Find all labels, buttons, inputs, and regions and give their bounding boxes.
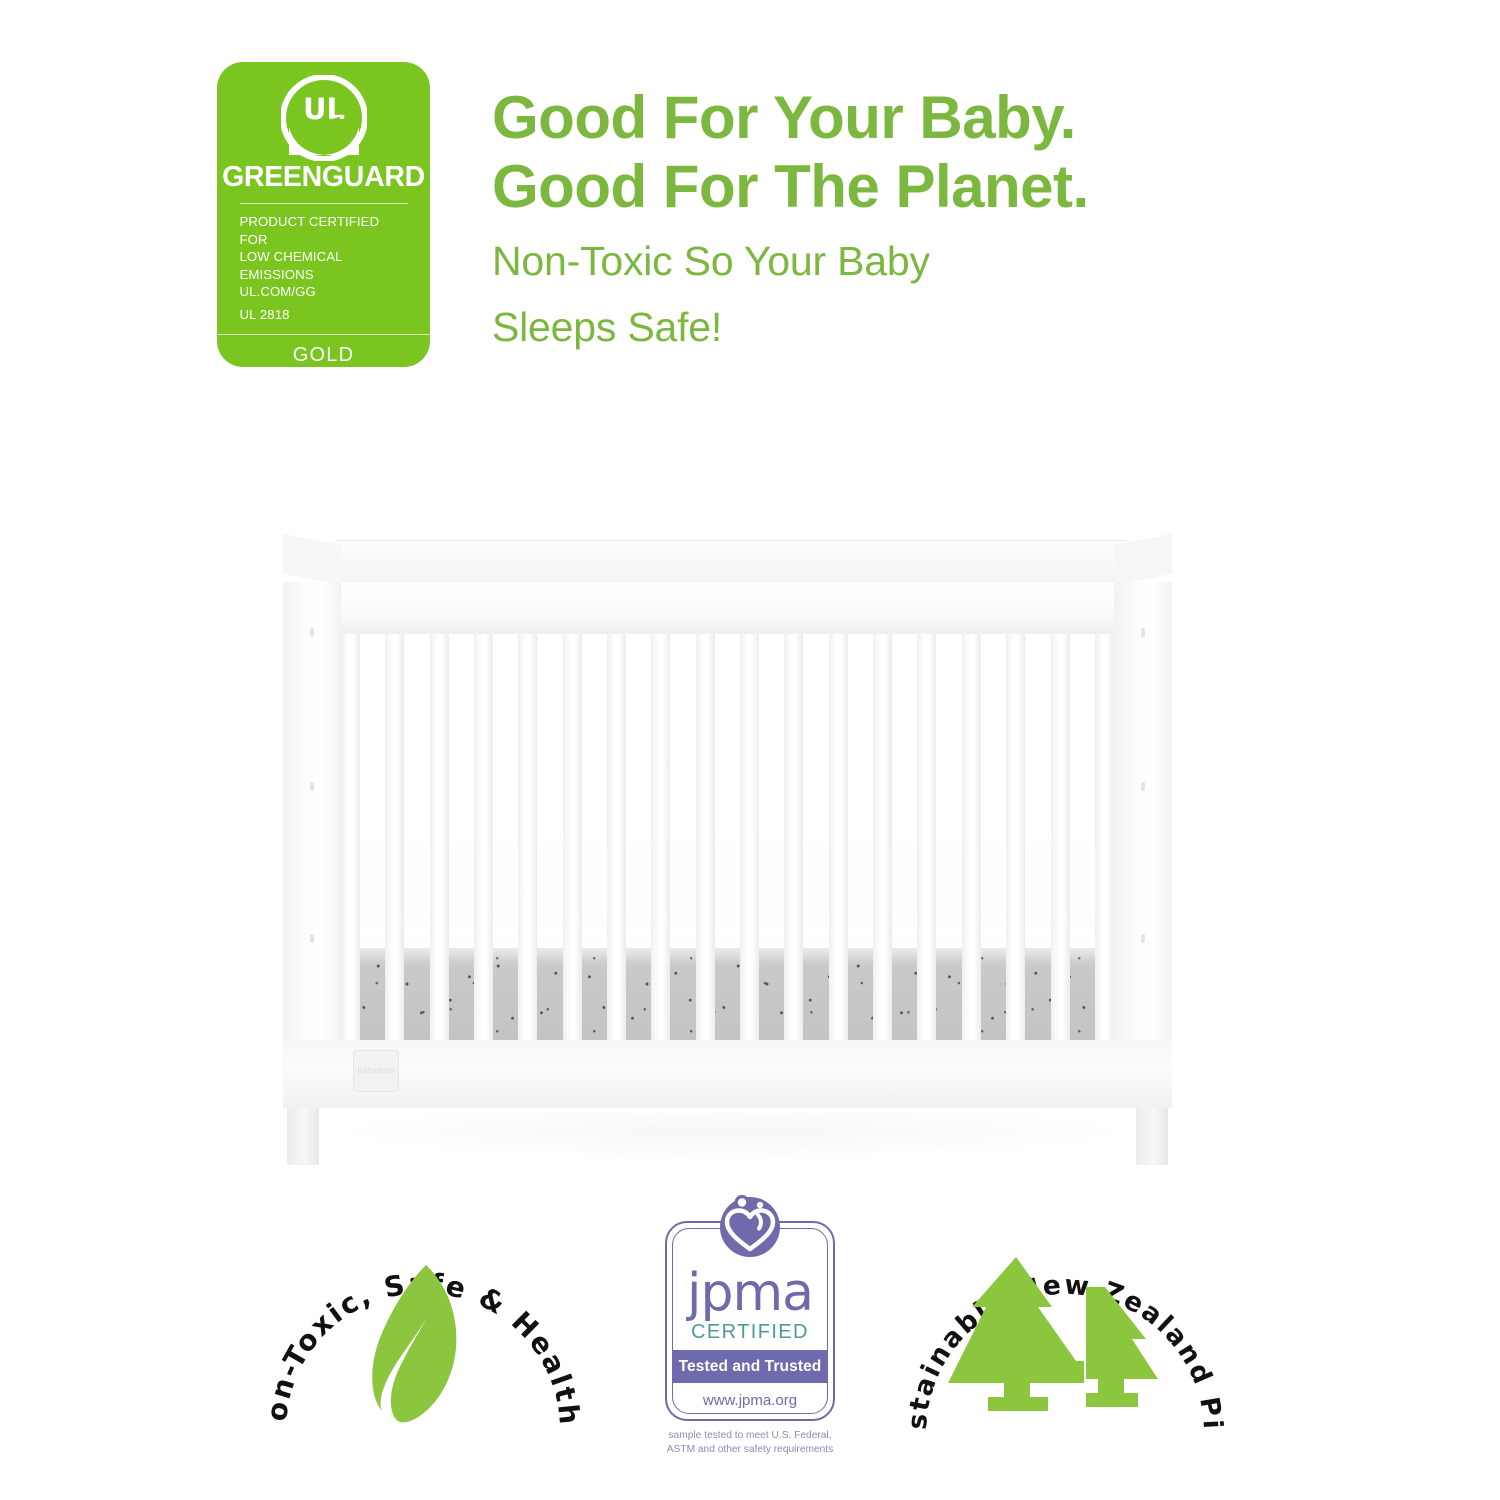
crib-leg-left — [287, 1108, 319, 1165]
subheadline-line-2: Sleeps Safe! — [492, 301, 1292, 353]
crib-slat — [474, 634, 493, 1040]
crib-slat — [873, 634, 892, 1040]
crib-slat — [651, 634, 670, 1040]
greenguard-line-1: PRODUCT CERTIFIED FOR — [240, 214, 380, 247]
jpma-tested-trusted-text: Tested and Trusted — [679, 1358, 822, 1376]
crib-brand-plate-text: babyletto — [358, 1067, 395, 1075]
crib-screw — [1141, 628, 1145, 637]
greenguard-line-3: UL.COM/GG — [240, 284, 316, 299]
crib-slat — [430, 634, 449, 1040]
crib-slat — [385, 634, 404, 1040]
crib-slat — [563, 634, 582, 1040]
crib-slat — [784, 634, 803, 1040]
jpma-fine-print-line-2: ASTM and other safety requirements — [667, 1444, 833, 1455]
crib-post-left — [283, 582, 341, 1042]
jpma-fine-print: sample tested to meet U.S. Federal, ASTM… — [638, 1429, 862, 1457]
badge-sustainable-nz-pine: Sustainable New Zealand Pine — [900, 1215, 1230, 1465]
crib-screw — [310, 934, 314, 943]
crib-slat — [962, 634, 981, 1040]
badge-non-toxic-safe-healthy: Non-Toxic, Safe & Healthy — [258, 1215, 588, 1465]
crib-front-top-rail — [283, 582, 1172, 634]
crib-slat — [740, 634, 759, 1040]
jpma-fine-print-line-1: sample tested to meet U.S. Federal, — [668, 1430, 831, 1441]
crib-screw — [1141, 782, 1145, 791]
badge-curved-label: Sustainable New Zealand Pine — [900, 1215, 1228, 1432]
jpma-url-text: www.jpma.org — [673, 1392, 827, 1409]
jpma-certified-label: CERTIFIED — [673, 1321, 827, 1344]
crib-screw — [310, 782, 314, 791]
crib-slat — [829, 634, 848, 1040]
headline-line-2: Good For The Planet. — [492, 152, 1292, 221]
crib-floor-shadow — [335, 1112, 1125, 1160]
crib-screw — [310, 628, 314, 637]
ul-greenguard-leaf-icon: UL — [281, 75, 367, 161]
greenguard-line-2: LOW CHEMICAL EMISSIONS — [240, 249, 343, 282]
crib-slats — [341, 634, 1114, 1040]
crib-slat — [518, 634, 537, 1040]
jpma-parent-child-heart-icon — [714, 1193, 786, 1259]
badge-divider-top — [240, 203, 408, 204]
crib-slat-cage — [341, 634, 1114, 1040]
crib-post-right — [1114, 582, 1172, 1042]
crib-slat — [1006, 634, 1025, 1040]
certification-badges-row: Non-Toxic, Safe & Healthy — [0, 1215, 1500, 1500]
greenguard-wordmark: GREENGUARD — [222, 163, 425, 192]
crib-back-rail-left-perspective — [283, 534, 341, 585]
white-convertible-crib-image: babyletto — [275, 540, 1180, 1165]
badge-jpma-certified: jpma CERTIFIED Tested and Trusted www.jp… — [650, 1215, 850, 1480]
headline-block: Good For Your Baby. Good For The Planet.… — [492, 83, 1292, 354]
greenguard-standard-number: UL 2818 — [240, 306, 408, 324]
crib-brand-plate: babyletto — [353, 1050, 399, 1092]
crib-leg-right — [1136, 1108, 1168, 1165]
crib-slat — [607, 634, 626, 1040]
headline-line-1: Good For Your Baby. — [492, 83, 1292, 152]
crib-front-bottom-rail — [283, 1040, 1172, 1108]
crib-back-top-rail — [337, 540, 1127, 583]
crib-slat — [917, 634, 936, 1040]
jpma-card: jpma CERTIFIED Tested and Trusted www.jp… — [665, 1221, 835, 1421]
subheadline-line-1: Non-Toxic So Your Baby — [492, 235, 1292, 287]
crib-slat — [696, 634, 715, 1040]
jpma-wordmark: jpma — [673, 1271, 827, 1316]
greenguard-detail-text: PRODUCT CERTIFIED FOR LOW CHEMICAL EMISS… — [240, 213, 408, 323]
badge-divider-bottom — [217, 334, 430, 335]
crib-slat — [1095, 634, 1114, 1040]
jpma-tested-trusted-bar: Tested and Trusted — [673, 1350, 827, 1383]
greenguard-level-label: GOLD — [293, 344, 354, 367]
greenguard-gold-badge: UL GREENGUARD PRODUCT CERTIFIED FOR LOW … — [217, 62, 430, 367]
crib-slat — [341, 634, 360, 1040]
crib-slat — [1051, 634, 1070, 1040]
crib-screw — [1141, 934, 1145, 943]
header-section: UL GREENGUARD PRODUCT CERTIFIED FOR LOW … — [0, 0, 1500, 420]
product-image-area: babyletto — [0, 470, 1500, 1200]
